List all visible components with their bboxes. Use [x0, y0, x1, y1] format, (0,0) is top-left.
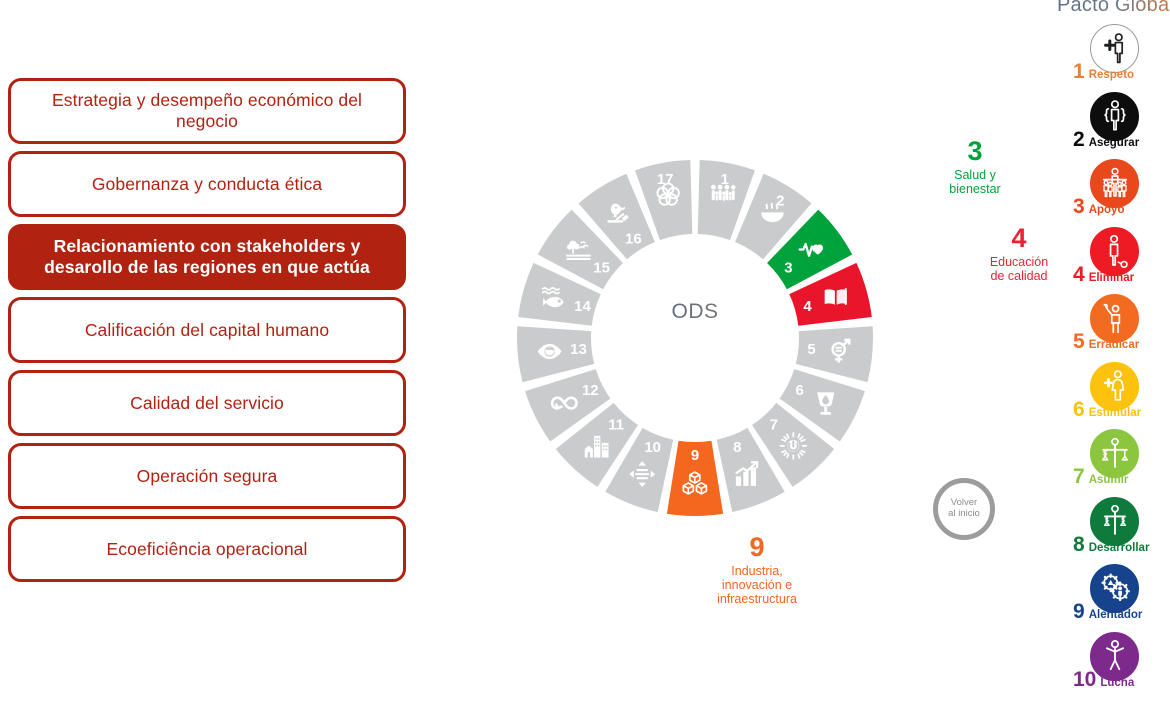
- pacto-global-number: 4: [1073, 264, 1085, 285]
- topic-label: Relacionamiento con stakeholders y desar…: [27, 236, 387, 277]
- sun-power-icon: [780, 433, 806, 459]
- callout-ods-3: 3 Salud ybienestar: [923, 136, 1027, 196]
- wheel-segment-number: 1: [721, 171, 729, 188]
- pacto-global-caption: 2Asegurar: [1055, 129, 1170, 150]
- pacto-global-title: Pacto Global: [1057, 0, 1170, 17]
- wheel-segment-number: 12: [582, 382, 599, 399]
- pacto-global-caption: 5Erradicar: [1055, 331, 1170, 352]
- pacto-global-word: Apoyo: [1089, 205, 1125, 217]
- wheel-segment-number: 9: [691, 447, 699, 464]
- pacto-global-item[interactable]: 10Lucha: [1055, 632, 1170, 700]
- callout-number: 9: [693, 532, 821, 563]
- pacto-global-number: 5: [1073, 331, 1085, 352]
- pacto-global-number: 7: [1073, 466, 1085, 487]
- wheel-segment-number: 10: [644, 439, 661, 456]
- topic-label: Calificación del capital humano: [85, 320, 329, 341]
- svg-text:$: $: [1105, 517, 1109, 524]
- wheel-segment-number: 8: [733, 439, 741, 456]
- topic-button[interactable]: Ecoeficiência operacional: [8, 516, 406, 582]
- pacto-global-word: Estimular: [1089, 408, 1141, 420]
- pacto-global-caption: 7Asumir: [1055, 466, 1170, 487]
- wheel-segment-number: 7: [770, 417, 778, 434]
- callout-number: 3: [923, 136, 1027, 167]
- pacto-global-item[interactable]: 3Apoyo: [1055, 159, 1170, 227]
- ods-wheel: 1234567891011121314151617 ODS 3 Salud yb…: [515, 88, 1015, 598]
- pacto-global-caption: 6Estimular: [1055, 399, 1170, 420]
- wheel-segment-number: 5: [807, 341, 815, 358]
- pacto-global-number: 9: [1073, 601, 1085, 622]
- pacto-global-word: Desarrollar: [1089, 543, 1150, 555]
- pacto-global-word: Lucha: [1100, 678, 1134, 690]
- topic-label: Calidad del servicio: [130, 393, 284, 414]
- pacto-global-items: 1Respeto2Asegurar3Apoyo4Eliminar5Erradic…: [1055, 24, 1170, 699]
- wheel-segment-number: 3: [784, 260, 792, 277]
- pacto-global-caption: 8Desarrollar: [1055, 534, 1170, 555]
- slide-canvas: Estrategia y desempeño económico del neg…: [0, 0, 1170, 708]
- pacto-global-rail: Pacto Global 1Respeto2Asegurar3Apoyo4Eli…: [1055, 0, 1170, 708]
- topic-button[interactable]: Calificación del capital humano: [8, 297, 406, 363]
- wheel-segment-number: 15: [593, 260, 610, 277]
- pacto-global-word: Alentador: [1089, 610, 1143, 622]
- topic-label: Ecoeficiência operacional: [107, 539, 308, 560]
- wheel-segment-number: 13: [570, 341, 587, 358]
- pacto-global-item[interactable]: 9Alentador: [1055, 564, 1170, 632]
- pacto-global-item[interactable]: $$8Desarrollar: [1055, 497, 1170, 565]
- pacto-global-number: 3: [1073, 196, 1085, 217]
- pacto-global-number: 10: [1073, 669, 1096, 690]
- pacto-global-word: Asumir: [1089, 475, 1129, 487]
- pacto-global-item[interactable]: 2Asegurar: [1055, 92, 1170, 160]
- pacto-global-word: Asegurar: [1089, 138, 1140, 150]
- pacto-global-item[interactable]: 6Estimular: [1055, 362, 1170, 430]
- topic-label: Gobernanza y conducta ética: [92, 174, 322, 195]
- callout-text: Salud ybienestar: [923, 168, 1027, 197]
- topic-button[interactable]: Relacionamiento con stakeholders y desar…: [8, 224, 406, 290]
- svg-text:$: $: [1121, 517, 1125, 524]
- pacto-global-word: Respeto: [1089, 70, 1134, 82]
- pacto-global-caption: 1Respeto: [1055, 61, 1170, 82]
- callout-text: Industria,innovación einfraestructura: [693, 564, 821, 607]
- pacto-global-caption: 9Alentador: [1055, 601, 1170, 622]
- topic-label: Estrategia y desempeño económico del neg…: [27, 90, 387, 131]
- pacto-global-number: 6: [1073, 399, 1085, 420]
- wheel-segment-number: 11: [608, 417, 624, 434]
- topic-label: Operación segura: [137, 466, 278, 487]
- pacto-global-item[interactable]: $7Asumir: [1055, 429, 1170, 497]
- ods-center-label: ODS: [515, 300, 875, 324]
- topic-button[interactable]: Gobernanza y conducta ética: [8, 151, 406, 217]
- pacto-global-caption: 10Lucha: [1055, 669, 1170, 690]
- topic-button[interactable]: Calidad del servicio: [8, 370, 406, 436]
- pacto-global-word: Erradicar: [1089, 340, 1140, 352]
- pacto-global-caption: 3Apoyo: [1055, 196, 1170, 217]
- topic-button[interactable]: Estrategia y desempeño económico del neg…: [8, 78, 406, 144]
- pacto-global-caption: 4Eliminar: [1055, 264, 1170, 285]
- callout-ods-9: 9 Industria,innovación einfraestructura: [693, 532, 821, 607]
- pacto-global-word: Eliminar: [1089, 273, 1134, 285]
- pacto-global-item[interactable]: 5Erradicar: [1055, 294, 1170, 362]
- back-to-start-label: Volver al inicio: [948, 498, 980, 519]
- wheel-segment-number: 2: [776, 192, 784, 209]
- pacto-global-number: 8: [1073, 534, 1085, 555]
- topic-button[interactable]: Operación segura: [8, 443, 406, 509]
- pacto-global-item[interactable]: 4Eliminar: [1055, 227, 1170, 295]
- pacto-global-item[interactable]: 1Respeto: [1055, 24, 1170, 92]
- pacto-global-number: 1: [1073, 61, 1085, 82]
- wheel-segment-number: 16: [625, 231, 642, 248]
- pacto-global-number: 2: [1073, 129, 1085, 150]
- wheel-segment-number: 6: [796, 382, 804, 399]
- back-to-start-button[interactable]: Volver al inicio: [933, 478, 995, 540]
- wheel-segment-number: 17: [657, 171, 674, 188]
- material-topics-list: Estrategia y desempeño económico del neg…: [8, 78, 406, 582]
